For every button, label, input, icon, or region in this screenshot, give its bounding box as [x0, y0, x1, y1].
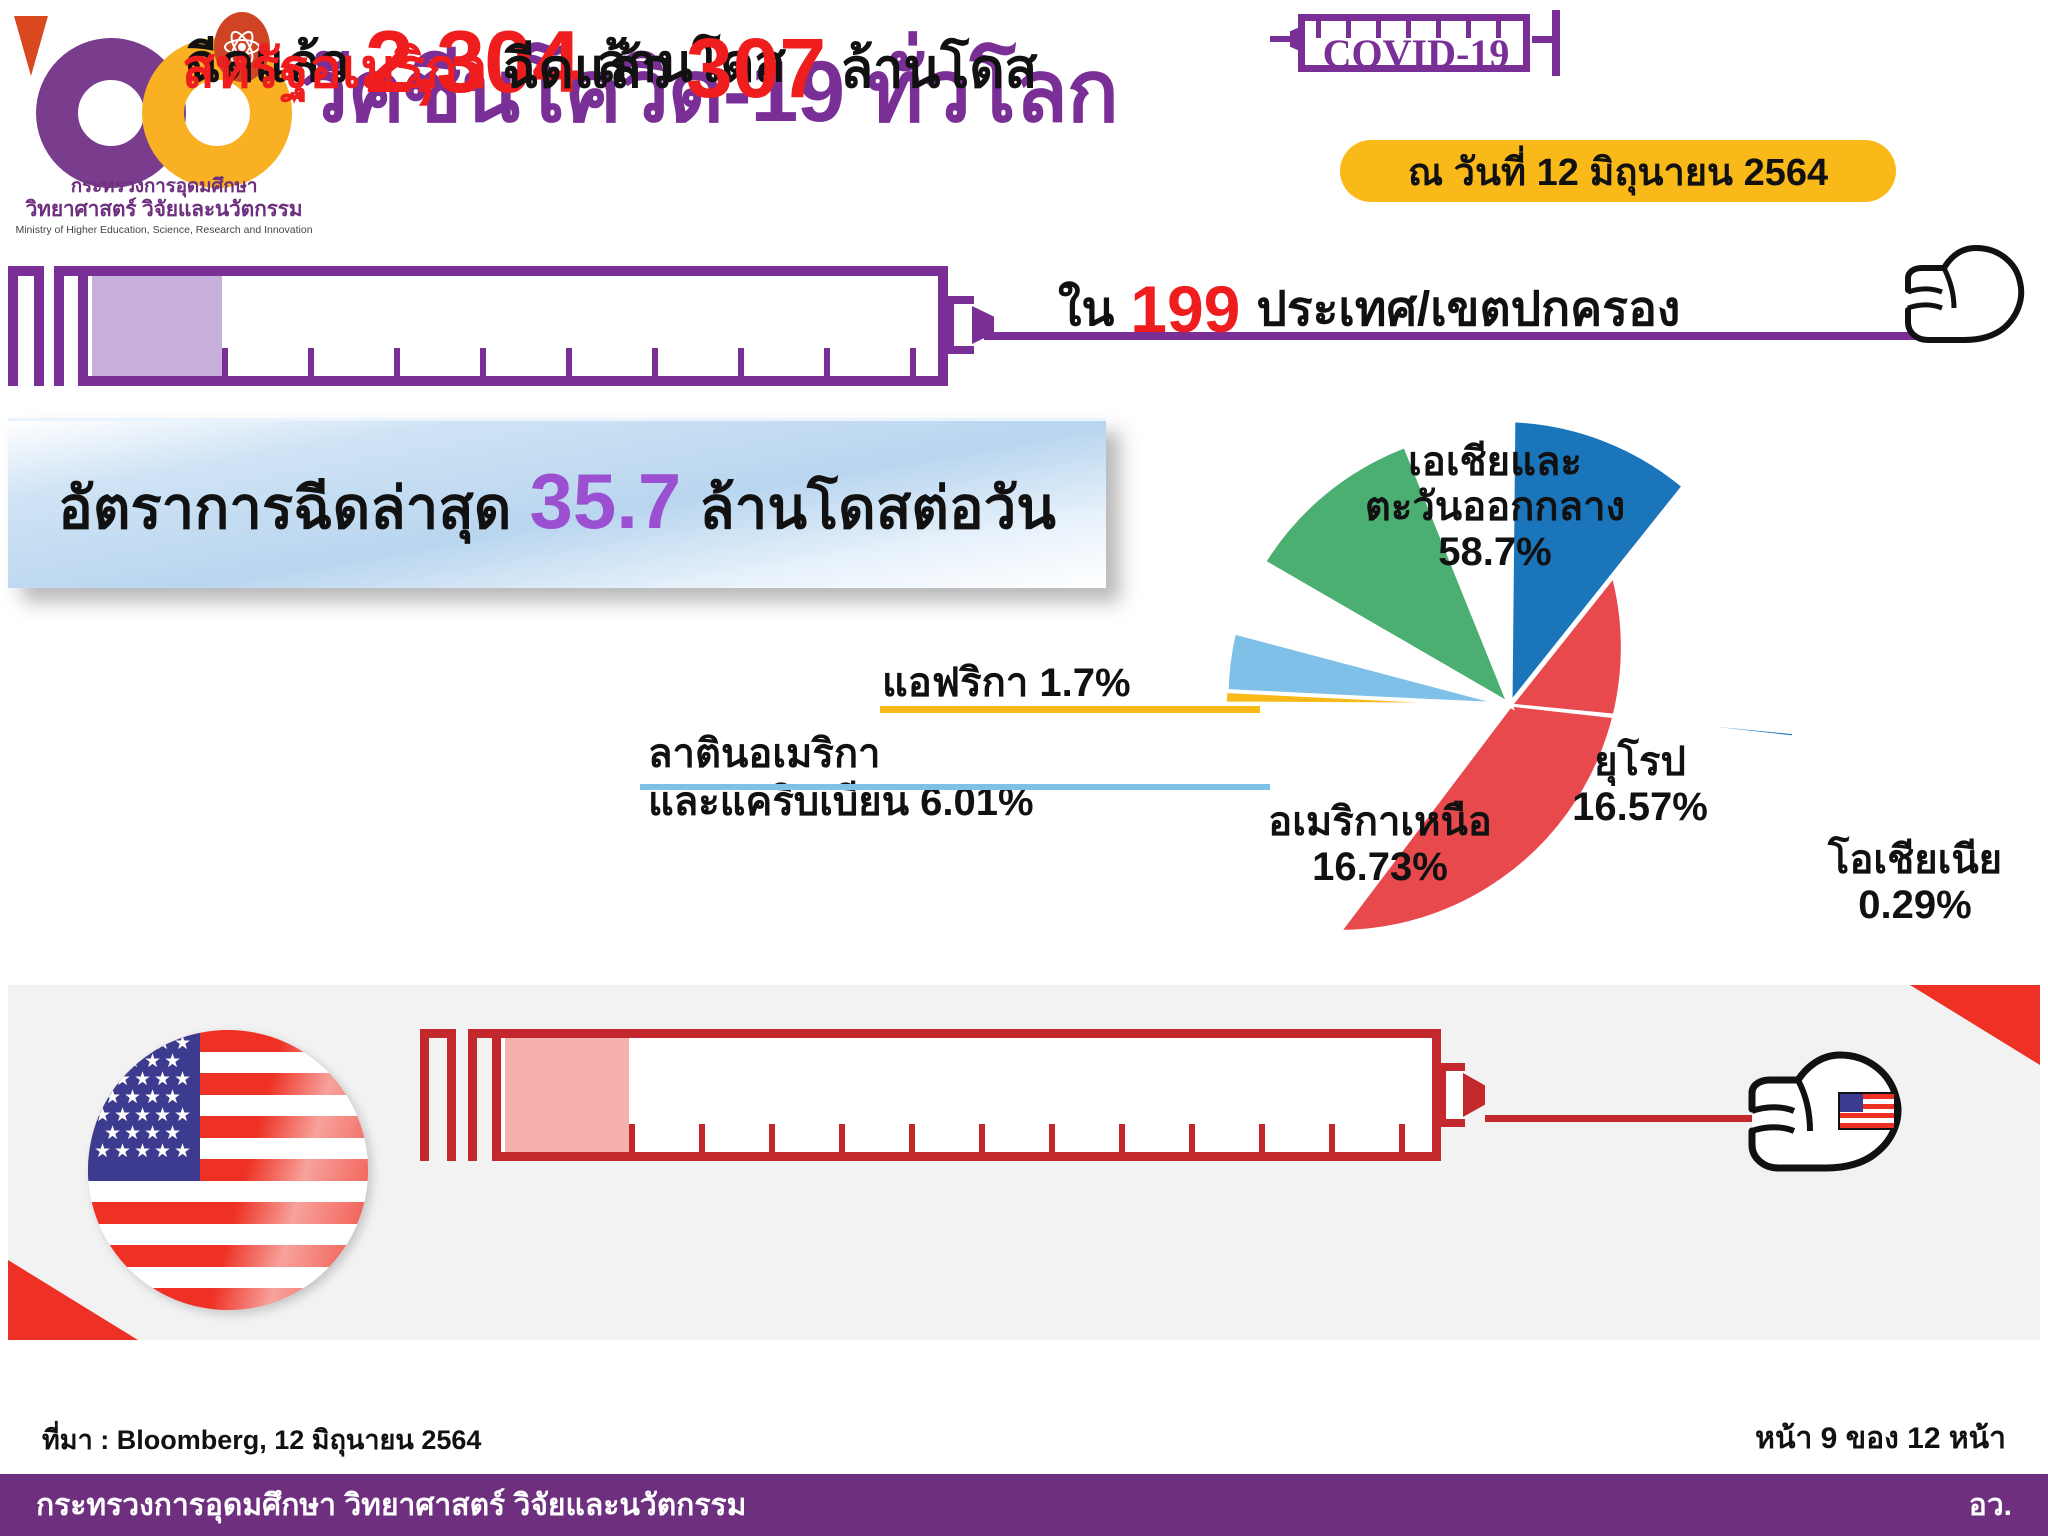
logo-overlap-shape: [14, 16, 48, 76]
daily-rate-suffix: ล้านโดสต่อวัน: [699, 461, 1056, 554]
pie-label-asia: เอเชียและ ตะวันออกกลาง 58.7%: [1345, 440, 1645, 574]
syringe-flange-inner-left: [54, 266, 64, 386]
panel-corner-accent-top-right: [1910, 985, 2040, 1065]
flag-gloss-overlay: [88, 1030, 368, 1310]
pie-label-oceania-value: 0.29%: [1800, 883, 2030, 928]
footer-abbrev: อว.: [1969, 1482, 2012, 1529]
syringe-flange-outer-right: [447, 1029, 456, 1161]
usa-flag-icon: ★★ ★★ ★ ★★ ★★ ★★ ★★ ★ ★★ ★★ ★★ ★★ ★ ★★ ★…: [88, 1030, 368, 1310]
syringe-nozzle-tip: [1463, 1073, 1485, 1117]
usa-doses-value: 307: [686, 20, 826, 117]
pie-label-latin-america-line1: ลาตินอเมริกา: [648, 730, 1168, 778]
syringe-flange-inner-right: [78, 266, 88, 386]
connector-line-usa-arm: [1485, 1115, 1755, 1122]
pie-label-europe-name: ยุโรป: [1525, 740, 1755, 785]
countries-suffix: ประเทศ/เขตปกครอง: [1256, 271, 1680, 347]
syringe-fill: [505, 1038, 629, 1152]
daily-rate-text: อัตราการฉีดล่าสุด 35.7 ล้านโดสต่อวัน: [58, 456, 1056, 554]
date-badge: ณ วันที่ 12 มิถุนายน 2564: [1340, 140, 1896, 202]
syringe-nozzle-inner: [1446, 1071, 1465, 1119]
syringe-flange-outer-left: [8, 266, 18, 386]
footer-source: ที่มา : Bloomberg, 12 มิถุนายน 2564: [42, 1418, 481, 1461]
syringe-icon-usa-doses: [420, 1025, 1485, 1165]
footer-ministry-name: กระทรวงการอุดมศึกษา วิทยาศาสตร์ วิจัยและ…: [36, 1482, 746, 1529]
pie-leader-line-latin-america: [640, 784, 1270, 790]
syringe-nozzle-inner: [954, 304, 974, 346]
syringe-plunger-flange: [1552, 10, 1560, 76]
pie-label-europe-value: 16.57%: [1525, 785, 1755, 830]
covid-syringe-label: COVID-19: [1306, 30, 1526, 77]
usa-flag-icon-on-arm: [1838, 1092, 1896, 1130]
pie-label-asia-value: 58.7%: [1345, 530, 1645, 575]
pie-label-north-america: อเมริกาเหนือ 16.73%: [1255, 800, 1505, 890]
pie-leader-line-africa: [880, 706, 1260, 713]
daily-rate-banner: อัตราการฉีดล่าสุด 35.7 ล้านโดสต่อวัน: [8, 418, 1106, 588]
usa-doses-unit: ล้านโดส: [840, 25, 1037, 111]
syringe-flange-inner-right: [492, 1029, 501, 1161]
pie-label-oceania-name: โอเชียเนีย: [1800, 838, 2030, 883]
syringe-flange-outer-left: [420, 1029, 429, 1161]
logo-caption-th-line2: วิทยาศาสตร์ วิจัยและนวัตกรรม: [14, 198, 314, 222]
footer-bar: กระทรวงการอุดมศึกษา วิทยาศาสตร์ วิจัยและ…: [0, 1474, 2048, 1536]
syringe-flange-inner-left: [468, 1029, 477, 1161]
daily-rate-value: 35.7: [529, 456, 681, 547]
syringe-icon-covid: COVID-19: [1270, 6, 1580, 84]
pie-label-north-america-name: อเมริกาเหนือ: [1255, 800, 1505, 845]
logo-caption: กระทรวงการอุดมศึกษา วิทยาศาสตร์ วิจัยและ…: [14, 176, 314, 237]
footer-page-number: หน้า 9 ของ 12 หน้า: [1755, 1415, 2006, 1462]
pie-label-europe: ยุโรป 16.57%: [1525, 740, 1755, 830]
syringe-ticks: [629, 1124, 1434, 1152]
usa-country-label: สหรัฐอเมริกา: [182, 25, 488, 111]
countries-value: 199: [1130, 271, 1240, 347]
pie-label-oceania: โอเชียเนีย 0.29%: [1800, 838, 2030, 928]
usa-action-label: ฉีดแล้ว: [502, 25, 672, 111]
syringe-fill: [92, 276, 222, 376]
pie-label-north-america-value: 16.73%: [1255, 845, 1505, 890]
pie-label-asia-line2: ตะวันออกกลาง: [1345, 485, 1645, 530]
flexed-arm-icon: [1898, 232, 2038, 352]
usa-doses-text: สหรัฐอเมริกา ฉีดแล้ว 307 ล้านโดส: [182, 28, 1002, 108]
countries-text: ใน 199 ประเทศ/เขตปกครอง: [1058, 280, 1680, 338]
syringe-flange-outer-right: [34, 266, 44, 386]
pie-label-latin-america: ลาตินอเมริกา และแคริบเบียน 6.01%: [648, 730, 1168, 826]
syringe-plunger-rod: [1532, 36, 1554, 43]
logo-caption-th-line1: กระทรวงการอุดมศึกษา: [14, 176, 314, 198]
flag-canton: [1840, 1094, 1863, 1112]
region-pie-chart: เอเชียและ ตะวันออกกลาง 58.7% ยุโรป 16.57…: [1195, 400, 1795, 960]
logo-caption-en: Ministry of Higher Education, Science, R…: [14, 224, 314, 237]
infographic-page: กระทรวงการอุดมศึกษา วิทยาศาสตร์ วิจัยและ…: [0, 0, 2048, 1536]
syringe-ticks: [222, 348, 942, 376]
pie-label-africa: แอฟริกา 1.7%: [882, 650, 1131, 714]
syringe-icon-global-doses: [8, 262, 988, 390]
pie-label-asia-line1: เอเชียและ: [1345, 440, 1645, 485]
daily-rate-prefix: อัตราการฉีดล่าสุด: [58, 461, 511, 554]
countries-prefix: ใน: [1058, 271, 1114, 347]
